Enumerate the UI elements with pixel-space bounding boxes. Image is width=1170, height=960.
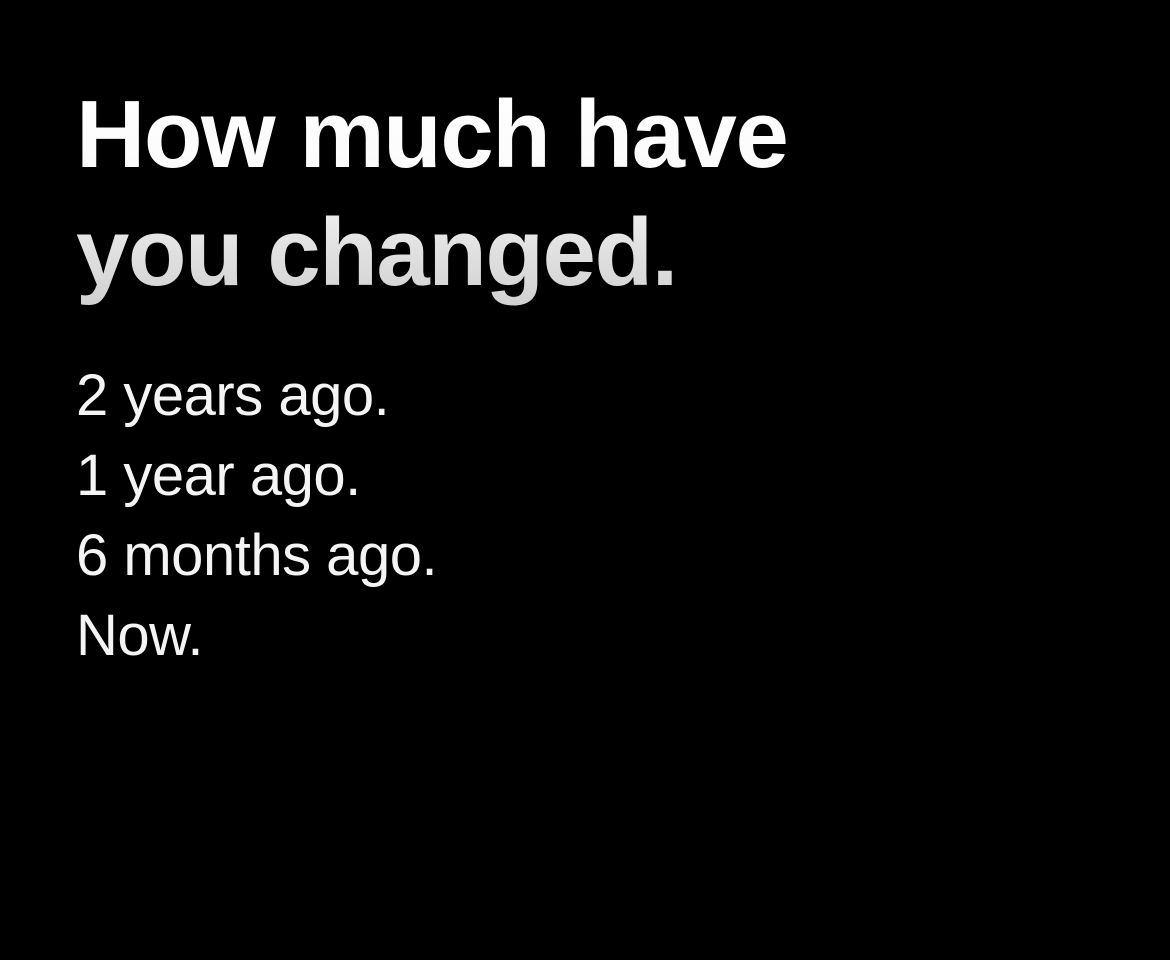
text-content-block: How much have you changed. 2 years ago. … <box>76 76 1130 676</box>
timeline-list: 2 years ago. 1 year ago. 6 months ago. N… <box>76 356 1130 676</box>
quote-card: How much have you changed. 2 years ago. … <box>0 0 1170 960</box>
list-item: 1 year ago. <box>76 436 1130 516</box>
headline: How much have you changed. <box>76 76 976 312</box>
list-item: 6 months ago. <box>76 516 1130 596</box>
list-item: Now. <box>76 596 1130 676</box>
list-item: 2 years ago. <box>76 356 1130 436</box>
